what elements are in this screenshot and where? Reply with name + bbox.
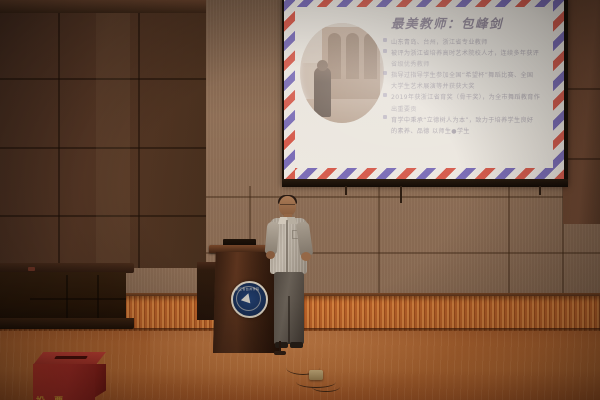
right-wall: [563, 0, 600, 224]
speaker-hand-right: [301, 252, 311, 261]
slide-line-8: 育学中秉承“立德树人为本”，致力于培养学生良好: [391, 115, 551, 126]
wall-seam-vertical-2: [378, 186, 380, 296]
slide-line-7: 出重要贡: [391, 104, 551, 115]
projection-screen-weight-bar: [282, 179, 568, 187]
stage-table-panel-seam-2: [97, 275, 99, 318]
slide-title: 最美教师：包峰剑: [391, 13, 549, 32]
slide-bullet-1: [383, 38, 387, 42]
ballot-box-side: [94, 364, 106, 398]
left-wall-highlight: [96, 13, 130, 268]
slide-bullet-5: [383, 115, 387, 119]
speaker-glasses: [280, 204, 295, 208]
slide-border-left: [284, 0, 295, 179]
stage-table-base: [0, 318, 134, 329]
table-microphone: [28, 267, 35, 271]
ballot-box-label: 投 票: [36, 394, 92, 400]
slide-line-1: 山东青岛、台州，浙江省专业教师: [391, 37, 551, 48]
stage-table-panel-seam-1: [66, 275, 68, 318]
speaker-hand-left: [266, 251, 275, 259]
stage-table: [0, 263, 134, 329]
left-wall-seam-v1: [58, 13, 60, 268]
wall-seam-vertical-3: [508, 186, 510, 296]
left-wall-seam-v2: [138, 13, 140, 268]
photo-ground: [300, 99, 384, 123]
left-wall-cornice: [0, 0, 206, 13]
speaker-shoe-left: [275, 342, 288, 348]
emblem-label: 浙江省台州学院: [233, 287, 262, 291]
floor-mic-base: [274, 351, 286, 355]
stage-table-body: [0, 272, 126, 320]
slide-line-6: 2019年获浙江省育奖（骨干奖），为全市舞蹈教育作: [391, 92, 551, 103]
screen-hook-center: [400, 186, 402, 203]
photo-arch-3: [364, 33, 377, 79]
right-wall-seam-h1: [563, 88, 600, 90]
slide-bullet-4: [383, 93, 387, 97]
projection-screen[interactable]: 最美教师：包峰剑 山东青岛、台州，浙江省专业教师 被评为浙江省培养高时艺术院校人…: [284, 0, 564, 179]
presentation-slide: 最美教师：包峰剑 山东青岛、台州，浙江省专业教师 被评为浙江省培养高时艺术院校人…: [284, 0, 564, 179]
slide-bullet-3: [383, 71, 387, 75]
slide-bullet-2: [383, 49, 387, 53]
speaker: [262, 196, 318, 351]
photo-person-head: [317, 60, 328, 71]
slide-body-text: 山东青岛、台州，浙江省专业教师 被评为浙江省培养高时艺术院校人才，连续多年获评 …: [391, 37, 551, 137]
slide-line-4: 指导过指导学生参加全国“希望杯”舞蹈比赛、全国: [391, 70, 551, 81]
screen-hook-right: [539, 186, 541, 195]
slide-line-9: 的素养、品德 以师生●学生: [391, 126, 551, 137]
floor-cable-3: [312, 382, 340, 392]
speaker-shirt-placket: [286, 220, 288, 272]
ballot-box-slot[interactable]: [54, 356, 88, 359]
auditorium-scene: 最美教师：包峰剑 山东青岛、台州，浙江省专业教师 被评为浙江省培养高时艺术院校人…: [0, 0, 600, 400]
photo-person-body: [314, 67, 331, 117]
slide-portrait-photo: [300, 23, 384, 123]
stage-table-panel-seam-3: [30, 298, 126, 300]
speaker-shoe-right: [290, 342, 303, 348]
power-adapter: [309, 370, 323, 380]
ballot-box[interactable]: 投 票: [33, 352, 106, 400]
slide-line-3: 省级优秀教师: [391, 59, 551, 70]
slide-border-bottom: [284, 168, 564, 179]
slide-line-5: 大学生艺术展演等并获获大奖: [391, 81, 551, 92]
ballot-box-front: 投 票: [33, 364, 95, 400]
slide-line-2: 被评为浙江省培养高时艺术院校人才，连续多年获评: [391, 48, 551, 59]
speaker-trouser-seam: [288, 296, 290, 344]
photo-arch-2: [346, 33, 359, 79]
slide-border-top: [284, 0, 564, 7]
slide-border-right: [553, 0, 564, 179]
right-wall-seam-h2: [563, 158, 600, 160]
slide-content-area: 最美教师：包峰剑 山东青岛、台州，浙江省专业教师 被评为浙江省培养高时艺术院校人…: [295, 7, 553, 168]
screen-hook-left: [345, 186, 347, 195]
